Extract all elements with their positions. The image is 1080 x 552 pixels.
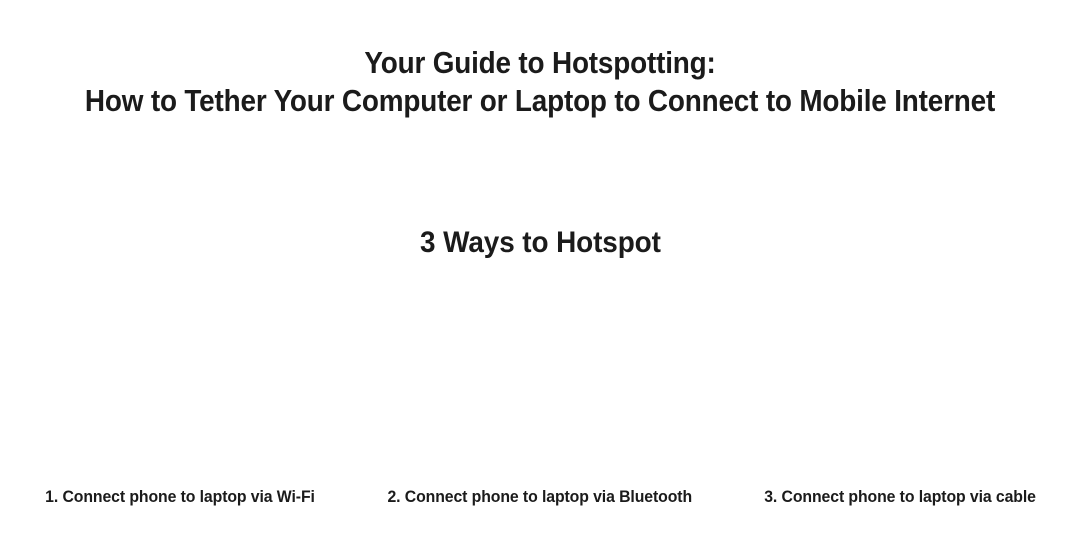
method-captions: 1. Connect phone to laptop via Wi-Fi 2. … <box>0 486 1080 516</box>
method-caption-2-text: 2. Connect phone to laptop via Bluetooth <box>388 486 693 508</box>
article-page: Your Guide to Hotspotting: How to Tether… <box>0 0 1080 552</box>
method-caption-3-text: 3. Connect phone to laptop via cable <box>764 486 1036 508</box>
method-image-3 <box>750 290 1050 480</box>
section-heading-text: 3 Ways to Hotspot <box>420 224 661 262</box>
page-title: Your Guide to Hotspotting: How to Tether… <box>0 44 1080 120</box>
method-item-2 <box>360 282 720 480</box>
method-item-3 <box>720 282 1080 480</box>
method-caption-3: 3. Connect phone to laptop via cable <box>720 486 1080 508</box>
method-image-2 <box>390 290 690 480</box>
section-heading: 3 Ways to Hotspot <box>0 224 1080 262</box>
page-title-line-2: How to Tether Your Computer or Laptop to… <box>54 82 1026 120</box>
page-title-line-1: Your Guide to Hotspotting: <box>54 44 1026 82</box>
method-image-1 <box>30 290 330 480</box>
method-caption-1-text: 1. Connect phone to laptop via Wi-Fi <box>45 486 315 508</box>
method-illustrations <box>0 282 1080 480</box>
method-item-1 <box>0 282 360 480</box>
method-caption-2: 2. Connect phone to laptop via Bluetooth <box>360 486 720 508</box>
method-caption-1: 1. Connect phone to laptop via Wi-Fi <box>0 486 360 508</box>
